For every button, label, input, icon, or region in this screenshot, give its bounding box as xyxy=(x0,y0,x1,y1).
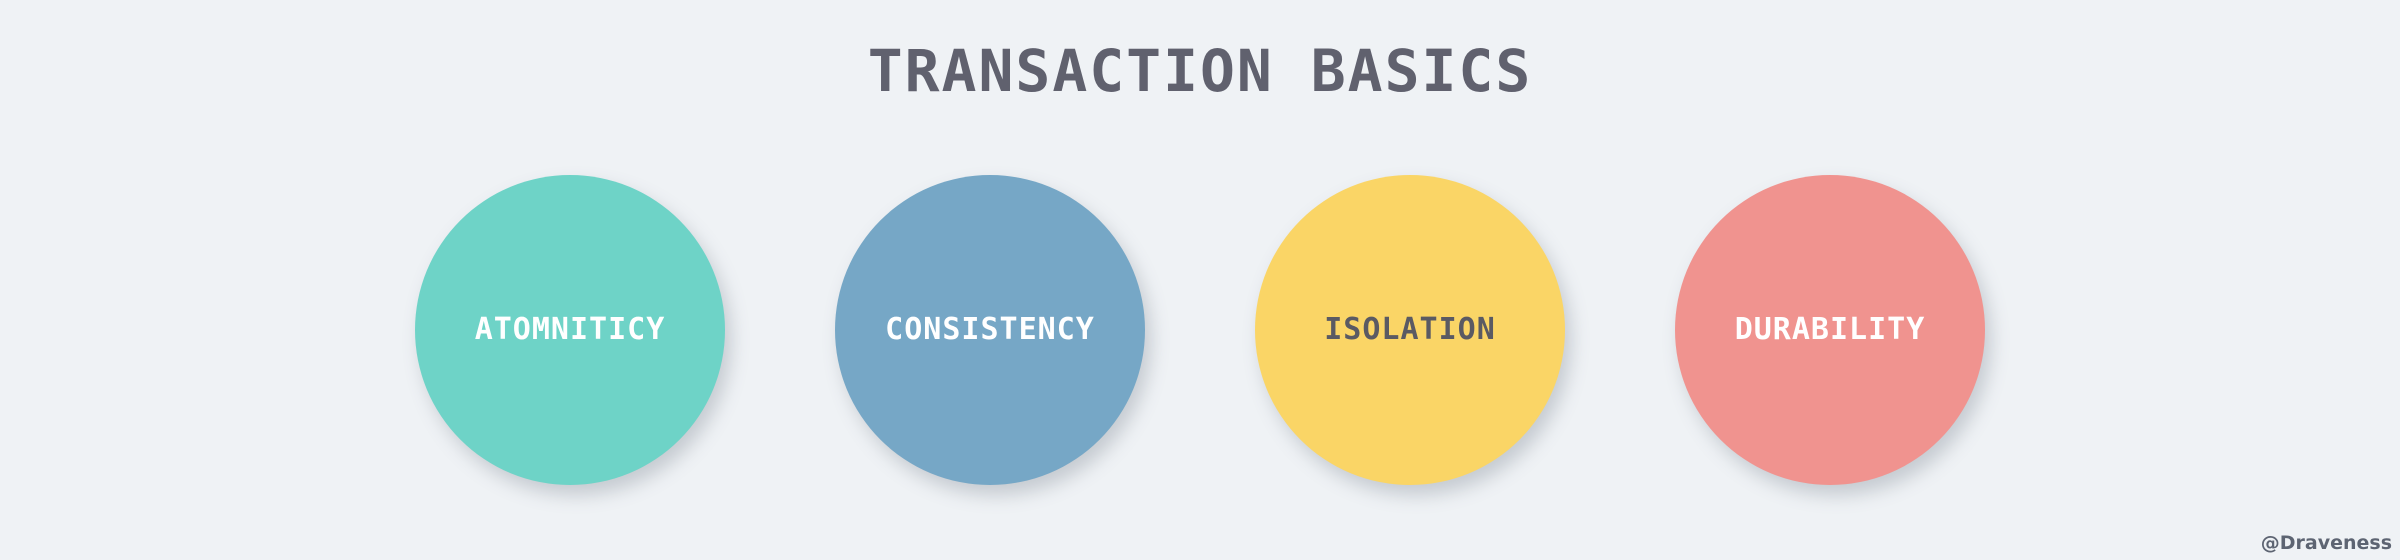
concept-circle-row: ATOMNITICY CONSISTENCY ISOLATION DURABIL… xyxy=(0,175,2400,495)
concept-circle-isolation[interactable]: ISOLATION xyxy=(1255,175,1565,485)
diagram-canvas: TRANSACTION BASICS ATOMNITICY CONSISTENC… xyxy=(0,0,2400,560)
concept-circle-label: CONSISTENCY xyxy=(885,315,1095,345)
concept-circle-label: ISOLATION xyxy=(1324,315,1496,345)
concept-circle-label: DURABILITY xyxy=(1735,315,1926,345)
concept-circle-consistency[interactable]: CONSISTENCY xyxy=(835,175,1145,485)
concept-circle-atomniticy[interactable]: ATOMNITICY xyxy=(415,175,725,485)
author-watermark: @Draveness xyxy=(2261,532,2392,554)
concept-circle-durability[interactable]: DURABILITY xyxy=(1675,175,1985,485)
page-title: TRANSACTION BASICS xyxy=(0,40,2400,104)
concept-circle-label: ATOMNITICY xyxy=(475,315,666,345)
